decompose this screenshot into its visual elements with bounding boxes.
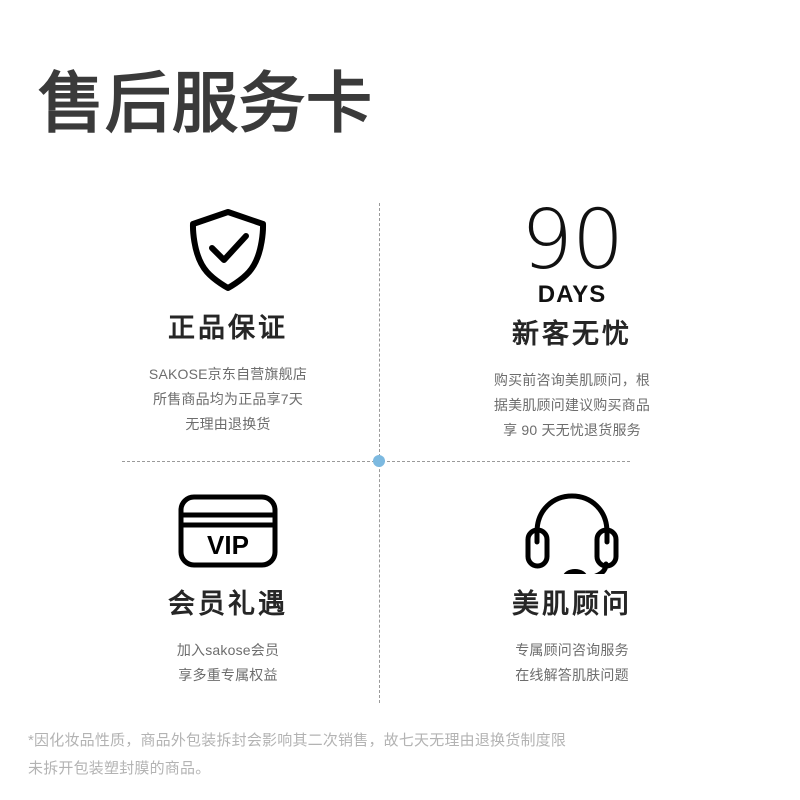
feature-body-line: 购买前咨询美肌顾问，根 bbox=[402, 368, 742, 393]
feature-body-line: 享 90 天无忧退货服务 bbox=[402, 418, 742, 443]
feature-body-line: SAKOSE京东自营旗舰店 bbox=[58, 362, 398, 387]
shield-check-icon bbox=[186, 207, 270, 293]
feature-body-line: 在线解答肌肤问题 bbox=[402, 663, 742, 688]
headset-icon bbox=[520, 488, 624, 574]
feature-body: 加入sakose会员 享多重专属权益 bbox=[58, 638, 398, 688]
feature-heading: 新客无忧 bbox=[402, 318, 742, 350]
after-sales-service-card: 售后服务卡 正品保证 SAKOSE京东自营旗舰店 所售商品均为正品享7天 无理由… bbox=[0, 0, 800, 800]
feature-body-line: 加入sakose会员 bbox=[58, 638, 398, 663]
feature-grid: 正品保证 SAKOSE京东自营旗舰店 所售商品均为正品享7天 无理由退换货 90… bbox=[0, 196, 800, 706]
feature-body-line: 享多重专属权益 bbox=[58, 663, 398, 688]
headset-icon-wrap bbox=[402, 488, 742, 574]
feature-body-line: 无理由退换货 bbox=[58, 412, 398, 437]
feature-heading: 正品保证 bbox=[58, 312, 398, 344]
feature-authentic-guarantee: 正品保证 SAKOSE京东自营旗舰店 所售商品均为正品享7天 无理由退换货 bbox=[58, 202, 398, 437]
feature-body: 专属顾问咨询服务 在线解答肌肤问题 bbox=[402, 638, 742, 688]
feature-heading: 会员礼遇 bbox=[58, 588, 398, 620]
feature-member-privileges: VIP 会员礼遇 加入sakose会员 享多重专属权益 bbox=[58, 488, 398, 688]
vip-card-icon: VIP bbox=[177, 492, 279, 570]
feature-skin-consultant: 美肌顾问 专属顾问咨询服务 在线解答肌肤问题 bbox=[402, 488, 742, 688]
vip-card-icon-text: VIP bbox=[207, 530, 249, 560]
ninety-days-badge: 90 DAYS bbox=[402, 202, 742, 312]
footer-disclaimer: *因化妆品性质，商品外包装拆封会影响其二次销售，故七天无理由退换货制度限 未拆开… bbox=[28, 727, 728, 783]
feature-body: SAKOSE京东自营旗舰店 所售商品均为正品享7天 无理由退换货 bbox=[58, 362, 398, 437]
vip-card-icon-wrap: VIP bbox=[58, 488, 398, 574]
feature-new-customer-worry-free: 90 DAYS 新客无忧 购买前咨询美肌顾问，根 据美肌顾问建议购买商品 享 9… bbox=[402, 202, 742, 443]
footer-line: *因化妆品性质，商品外包装拆封会影响其二次销售，故七天无理由退换货制度限 bbox=[28, 727, 728, 755]
feature-body-line: 专属顾问咨询服务 bbox=[402, 638, 742, 663]
feature-body-line: 据美肌顾问建议购买商品 bbox=[402, 393, 742, 418]
days-label: DAYS bbox=[538, 282, 606, 308]
feature-body-line: 所售商品均为正品享7天 bbox=[58, 387, 398, 412]
page-title: 售后服务卡 bbox=[38, 62, 373, 144]
big-number-90: 90 bbox=[521, 202, 623, 280]
shield-check-icon-wrap bbox=[58, 202, 398, 298]
footer-line: 未拆开包装塑封膜的商品。 bbox=[28, 755, 728, 783]
feature-heading: 美肌顾问 bbox=[402, 588, 742, 620]
feature-body: 购买前咨询美肌顾问，根 据美肌顾问建议购买商品 享 90 天无忧退货服务 bbox=[402, 368, 742, 443]
